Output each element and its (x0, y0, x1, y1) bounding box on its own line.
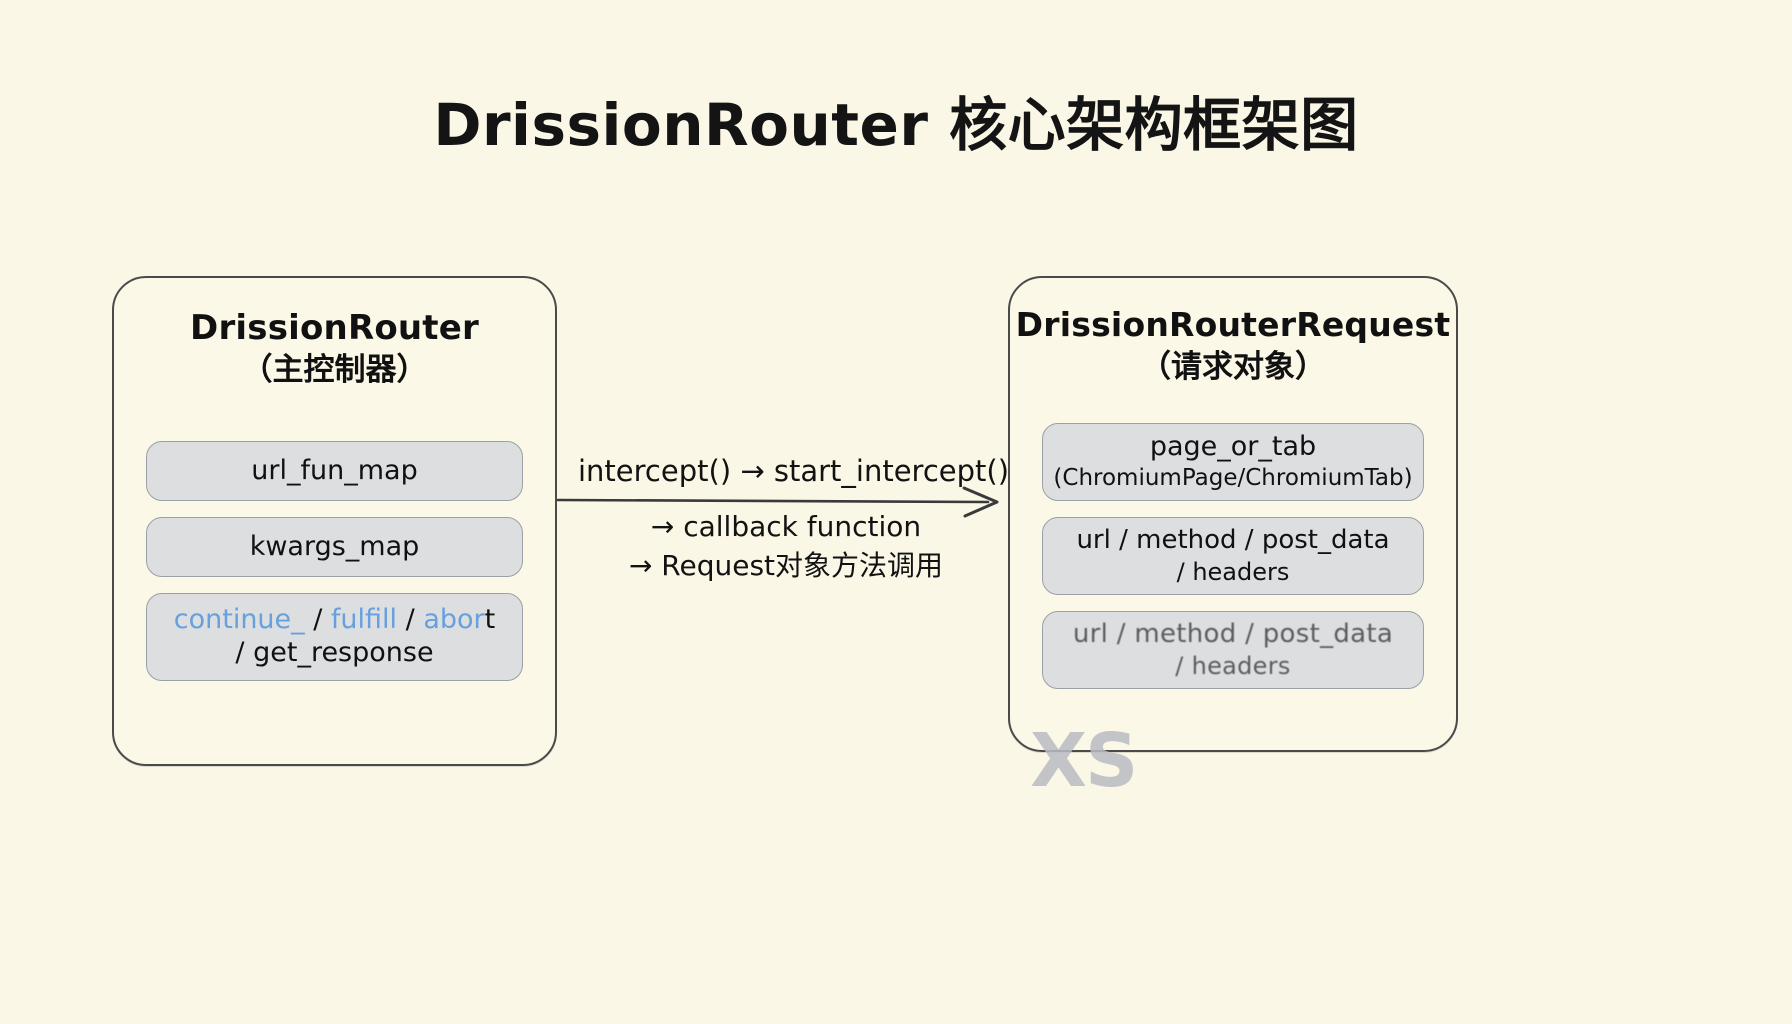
chip-request-fields[interactable]: url / method / post_data / headers (1042, 517, 1424, 595)
card-title-left-sub: （主控制器） (114, 352, 555, 389)
left-card-chip-list: url_fun_map kwargs_map continue_ / fulfi… (114, 441, 555, 697)
diagram-canvas: DrissionRouter 核心架构框架图 DrissionRouter （主… (0, 0, 1792, 1024)
token-sep-2: / (397, 604, 423, 635)
chip-request-fields-line2: / headers (1177, 557, 1290, 587)
chip-kwargs-map[interactable]: kwargs_map (146, 517, 523, 577)
connector-secondary-label: → callback function → Request对象方法调用 (556, 508, 1016, 585)
chip-url-fun-map-label: url_fun_map (251, 455, 417, 487)
right-card-chip-list: page_or_tab (ChromiumPage/ChromiumTab) u… (1010, 423, 1456, 705)
chip-request-fields-line1: url / method / post_data (1076, 525, 1389, 556)
chip-page-or-tab-line2: (ChromiumPage/ChromiumTab) (1053, 464, 1412, 493)
chip-request-actions[interactable]: continue_ / fulfill / abort / get_respon… (146, 593, 523, 681)
card-title-left: DrissionRouter （主控制器） (114, 308, 555, 389)
card-title-right-main: DrissionRouterRequest (1010, 306, 1456, 345)
connector-primary-label: intercept() → start_intercept() (578, 454, 1009, 488)
chip-request-actions-line2: / get_response (235, 636, 433, 670)
chip-request-fields-duplicate[interactable]: url / method / post_data / headers (1042, 611, 1424, 689)
token-abort: abor (423, 604, 484, 635)
token-sep-1: / (305, 604, 331, 635)
token-abort-tail: t (485, 604, 496, 635)
card-drission-router: DrissionRouter （主控制器） url_fun_map kwargs… (112, 276, 557, 766)
connector-secondary-line2: → Request对象方法调用 (556, 547, 1016, 586)
card-drission-router-request: DrissionRouterRequest （请求对象） page_or_tab… (1008, 276, 1458, 752)
chip-kwargs-map-label: kwargs_map (250, 531, 420, 563)
watermark: XS (1030, 718, 1136, 804)
connector-secondary-line1: → callback function (556, 508, 1016, 547)
card-title-right-sub: （请求对象） (1010, 349, 1456, 386)
chip-request-fields-duplicate-line1: url / method / post_data (1073, 619, 1393, 650)
token-fulfill: fulfill (331, 604, 397, 635)
chip-page-or-tab[interactable]: page_or_tab (ChromiumPage/ChromiumTab) (1042, 423, 1424, 501)
chip-url-fun-map[interactable]: url_fun_map (146, 441, 523, 501)
card-title-right: DrissionRouterRequest （请求对象） (1010, 306, 1456, 386)
card-title-left-main: DrissionRouter (114, 308, 555, 348)
page-title: DrissionRouter 核心架构框架图 (0, 78, 1792, 162)
chip-request-fields-duplicate-line2: / headers (1175, 651, 1290, 681)
token-continue: continue_ (174, 604, 305, 635)
chip-page-or-tab-line1: page_or_tab (1150, 431, 1316, 463)
chip-request-actions-line1: continue_ / fulfill / abort (174, 604, 495, 636)
